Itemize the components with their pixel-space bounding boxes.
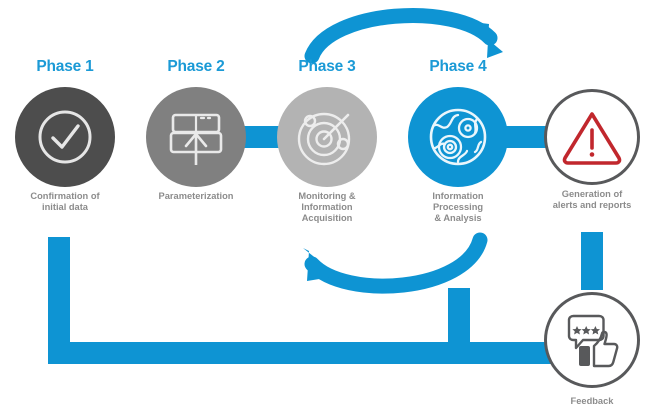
feedback-label: Feedback — [527, 396, 653, 407]
phase-2-label: Parameterization — [131, 191, 261, 202]
server-upload-icon — [163, 105, 229, 169]
alerts-label: Generation of alerts and reports — [524, 189, 653, 211]
connector-phase4-down-stub — [448, 288, 470, 354]
thumbs-up-review-icon — [561, 310, 623, 370]
connector-alerts-to-feedback — [581, 232, 603, 290]
phase-3-title: Phase 3 — [277, 58, 377, 76]
phase-1-title: Phase 1 — [15, 58, 115, 76]
phase-4-label: Information Processing & Analysis — [393, 191, 523, 224]
phase-2-disc[interactable] — [146, 87, 246, 187]
brain-gear-icon — [425, 104, 491, 170]
phase-1-label: Confirmation of initial data — [0, 191, 130, 213]
phase-2-title: Phase 2 — [146, 58, 246, 76]
phase-1-disc[interactable] — [15, 87, 115, 187]
radar-icon — [293, 104, 361, 170]
arc-arrow-phase4-to-phase3 — [303, 240, 480, 286]
diagram-canvas: Phase 1 Confirmation of initial data Pha… — [0, 0, 653, 415]
phase-4-title: Phase 4 — [408, 58, 508, 76]
alerts-disc[interactable] — [544, 89, 640, 185]
connector-feedback-return-path — [59, 237, 592, 353]
check-circle-icon — [33, 105, 97, 169]
phase-3-disc[interactable] — [277, 87, 377, 187]
phase-3-label: Monitoring & Information Acquisition — [262, 191, 392, 224]
warning-triangle-icon — [560, 108, 624, 166]
arc-arrow-phase3-to-phase4 — [312, 15, 503, 58]
feedback-disc[interactable] — [544, 292, 640, 388]
phase-4-disc[interactable] — [408, 87, 508, 187]
